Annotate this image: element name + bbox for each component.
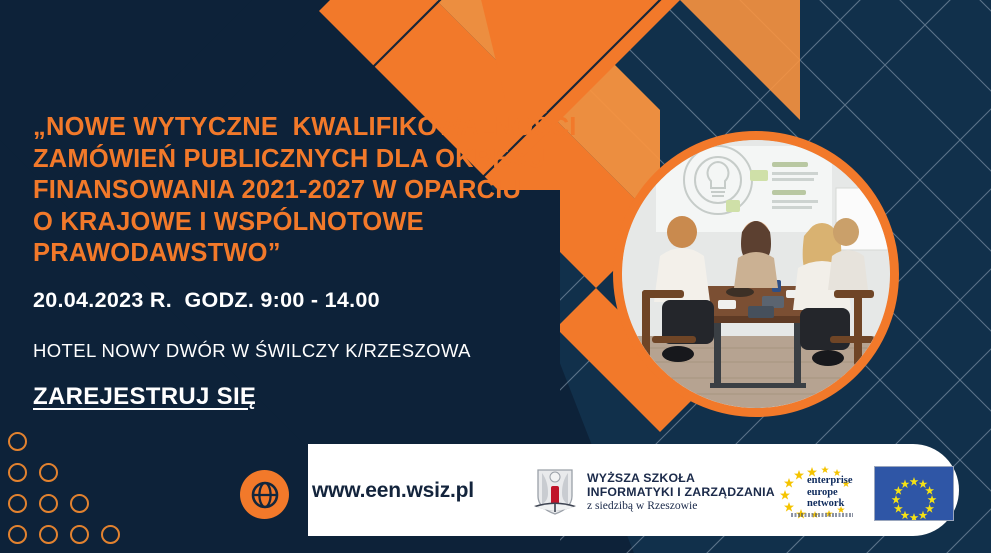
decor-dot (70, 494, 89, 513)
wsiz-line-1: WYŻSZA SZKOŁA (587, 472, 775, 486)
een-caption-microtext (791, 513, 853, 517)
event-photo (613, 131, 899, 417)
meeting-illustration (622, 140, 890, 408)
decor-dot (8, 432, 27, 451)
globe-badge (240, 470, 289, 519)
globe-icon (250, 480, 280, 510)
website-url[interactable]: www.een.wsiz.pl (312, 479, 474, 503)
headline-line-3: FINANSOWANIA 2021-2027 W OPARCIU (33, 175, 613, 207)
enterprise-europe-network-logo: enterprise europe network (779, 466, 863, 522)
headline-line-5: PRAWODAWSTWO” (33, 238, 613, 270)
decor-dot (39, 463, 58, 482)
headline: „NOWE WYTYCZNE KWALIFIKOWALNOŚCI ZAMÓWIE… (33, 112, 613, 270)
decor-dot (8, 525, 27, 544)
decor-dot (8, 494, 27, 513)
wsiz-crest-icon (532, 466, 578, 518)
een-line-2: europe (807, 487, 852, 499)
event-photo-image (622, 140, 890, 408)
decorative-dot-grid (4, 432, 134, 544)
wsiz-logo: WYŻSZA SZKOŁA INFORMATYKI I ZARZĄDZANIA … (532, 466, 775, 518)
headline-line-4: O KRAJOWE I WSPÓLNOTOWE (33, 207, 613, 239)
event-banner: „NOWE WYTYCZNE KWALIFIKOWALNOŚCI ZAMÓWIE… (0, 0, 991, 553)
decor-dot (101, 525, 120, 544)
wsiz-line-3: z siedzibą w Rzeszowie (587, 499, 775, 512)
decor-dot (39, 525, 58, 544)
headline-line-2: ZAMÓWIEŃ PUBLICZNYCH DLA OKRESU (33, 144, 613, 176)
eu-stars-icon (875, 467, 953, 520)
register-link[interactable]: ZAREJESTRUJ SIĘ (33, 383, 256, 411)
event-datetime: 20.04.2023 R. GODZ. 9:00 - 14.00 (33, 288, 380, 313)
decor-dot (70, 525, 89, 544)
een-wordmark: enterprise europe network (807, 475, 852, 510)
decor-dot (39, 494, 58, 513)
decor-dot (8, 463, 27, 482)
een-line-3: network (807, 498, 852, 510)
wsiz-line-2: INFORMATYKI I ZARZĄDZANIA (587, 486, 775, 500)
een-line-1: enterprise (807, 475, 852, 487)
event-venue: HOTEL NOWY DWÓR W ŚWILCZY K/RZESZOWA (33, 340, 471, 362)
european-union-flag (874, 466, 954, 521)
headline-line-1: „NOWE WYTYCZNE KWALIFIKOWALNOŚCI (33, 112, 613, 144)
